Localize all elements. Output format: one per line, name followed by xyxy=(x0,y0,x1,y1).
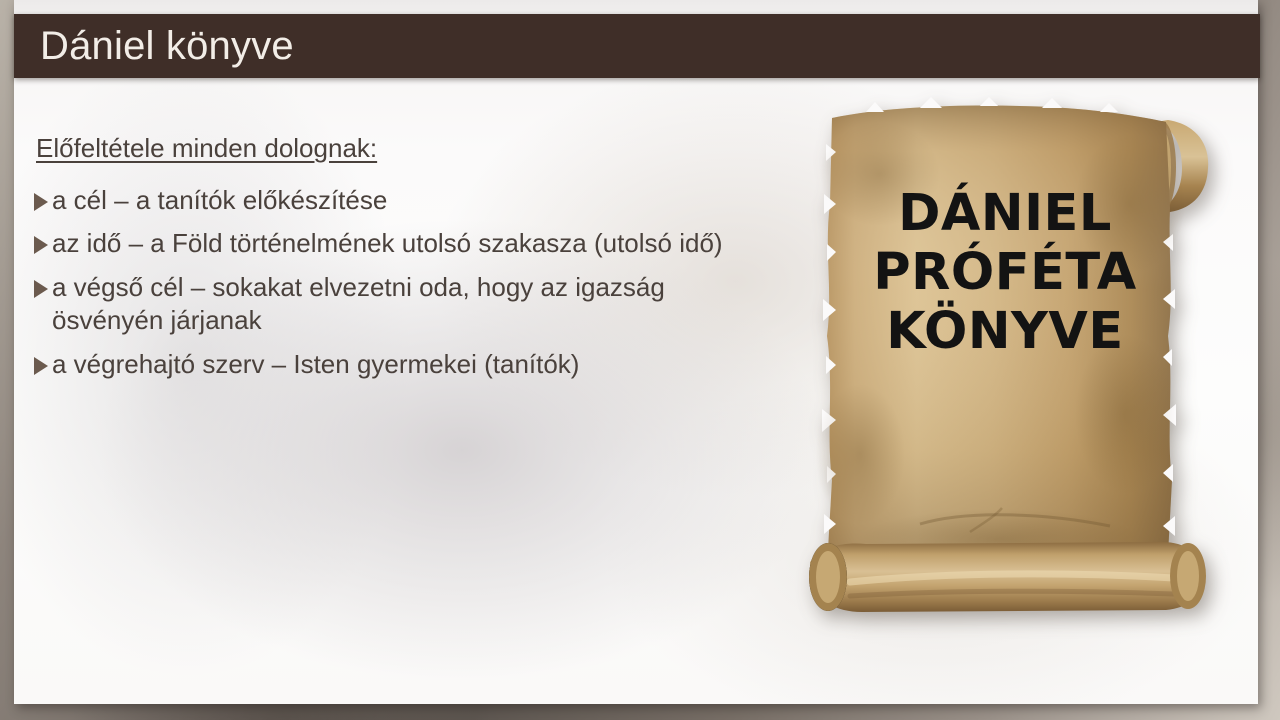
list-item-label: az idő – a Föld történelmének utolsó sza… xyxy=(51,227,762,260)
triangle-bullet-icon xyxy=(34,357,48,375)
scroll-illustration: DÁNIEL PRÓFÉTA KÖNYVE xyxy=(770,84,1240,644)
lead-heading: Előfeltétele minden dolognak: xyxy=(36,132,377,165)
slide-title-bar: Dániel könyve xyxy=(14,14,1260,78)
list-item-label: a végső cél – sokakat elvezetni oda, hog… xyxy=(51,271,762,337)
page-title: Dániel könyve xyxy=(14,26,294,66)
list-item: a végrehajtó szerv – Isten gyermekei (ta… xyxy=(22,348,762,381)
triangle-bullet-icon xyxy=(34,280,48,298)
slide-body: Előfeltétele minden dolognak: a cél – a … xyxy=(22,132,762,380)
list-item-label: a végrehajtó szerv – Isten gyermekei (ta… xyxy=(51,348,762,381)
triangle-bullet-icon xyxy=(34,193,48,211)
list-item: az idő – a Föld történelmének utolsó sza… xyxy=(22,227,762,260)
bullet-list: a cél – a tanítók előkészítése az idő – … xyxy=(22,184,762,381)
parchment-scroll-icon xyxy=(770,84,1240,644)
list-item: a cél – a tanítók előkészítése xyxy=(22,184,762,217)
list-item: a végső cél – sokakat elvezetni oda, hog… xyxy=(22,271,762,337)
list-item-label: a cél – a tanítók előkészítése xyxy=(51,184,762,217)
slide-frame: Dániel könyve Előfeltétele minden dologn… xyxy=(0,0,1280,720)
triangle-bullet-icon xyxy=(34,236,48,254)
